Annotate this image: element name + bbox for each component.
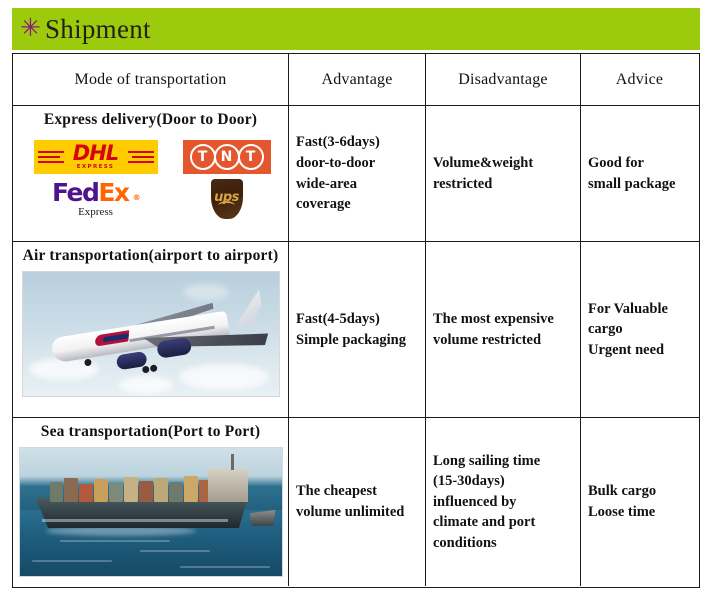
container-box — [79, 484, 93, 502]
plane-landing-gear — [141, 366, 149, 374]
cell-disadvantage: The most expensive volume restricted — [426, 242, 581, 417]
container-stack — [50, 476, 228, 502]
dhl-streak-icon — [38, 151, 64, 153]
container-box — [154, 478, 168, 502]
container-box — [109, 483, 123, 502]
cell-disadvantage: Volume&weight restricted — [426, 106, 581, 241]
courier-logo-group: DHL EXPRESS T N T FedEx® Express — [20, 137, 282, 221]
title-banner: ✳ Shipment — [12, 8, 700, 50]
cell-advantage: Fast(4-5days) Simple packaging — [289, 242, 426, 417]
table-row: Express delivery(Door to Door) DHL EXPRE… — [13, 106, 699, 242]
page-title: Shipment — [45, 14, 151, 45]
container-box — [94, 479, 108, 502]
ship-hull — [36, 498, 248, 528]
table-header-row: Mode of transportation Advantage Disadva… — [13, 54, 699, 106]
plane-landing-gear — [149, 364, 157, 372]
table-row: Sea transportation(Port to Port) — [13, 418, 699, 586]
tnt-letter-3: T — [238, 144, 264, 170]
airplane-photo — [22, 271, 280, 397]
plane-landing-gear — [83, 358, 91, 366]
ship-hull-stripe — [42, 519, 228, 522]
dhl-sublabel: EXPRESS — [77, 164, 115, 170]
registered-mark-icon: ® — [133, 194, 140, 202]
wave-line — [180, 566, 270, 568]
fedex-wordmark: FedEx® — [52, 180, 139, 205]
ship-bridge — [208, 468, 248, 502]
cell-disadvantage: Long sailing time (15-30days) influenced… — [426, 418, 581, 586]
cell-mode-sea: Sea transportation(Port to Port) — [13, 418, 289, 586]
asterisk-icon: ✳ — [20, 15, 41, 40]
container-ship-photo — [19, 447, 283, 577]
ship-mast — [231, 454, 234, 470]
column-header-mode: Mode of transportation — [13, 54, 289, 105]
cell-advantage: The cheapest volume unlimited — [289, 418, 426, 586]
container-box — [50, 482, 64, 502]
cell-advice: For Valuable cargo Urgent need — [581, 242, 698, 417]
cell-mode-express: Express delivery(Door to Door) DHL EXPRE… — [13, 106, 289, 241]
cloud-shape — [179, 364, 269, 390]
fedex-sublabel: Express — [78, 207, 113, 218]
tnt-letter-1: T — [190, 144, 216, 170]
mode-label: Express delivery(Door to Door) — [44, 111, 257, 129]
dhl-streak-icon — [132, 156, 154, 158]
mode-label: Air transportation(airport to airport) — [23, 247, 279, 265]
dhl-streak-icon — [38, 161, 64, 163]
tnt-logo: T N T — [183, 140, 271, 174]
container-box — [139, 481, 153, 502]
fedex-logo: FedEx® Express — [52, 180, 139, 218]
dhl-streak-icon — [128, 151, 154, 153]
container-box — [64, 478, 78, 502]
column-header-advantage: Advantage — [289, 54, 426, 105]
tnt-letter-2: N — [214, 144, 240, 170]
container-box — [184, 476, 198, 502]
dhl-streak-icon — [38, 156, 60, 158]
mode-label: Sea transportation(Port to Port) — [41, 423, 260, 441]
cell-mode-air: Air transportation(airport to airport) — [13, 242, 289, 417]
cell-advice: Good for small package — [581, 106, 698, 241]
shipment-comparison-table: Mode of transportation Advantage Disadva… — [12, 53, 700, 588]
column-header-disadvantage: Disadvantage — [426, 54, 581, 105]
wave-line — [140, 550, 210, 552]
dhl-streak-icon — [128, 161, 154, 163]
container-box — [124, 477, 138, 502]
wave-line — [32, 560, 112, 562]
fedex-word-part1: Fed — [52, 180, 98, 205]
ups-logo: ups — [211, 179, 243, 219]
fedex-word-part2: Ex — [98, 180, 128, 205]
container-box — [169, 482, 183, 502]
column-header-advice: Advice — [581, 54, 698, 105]
cell-advantage: Fast(3-6days) door-to-door wide-area cov… — [289, 106, 426, 241]
cloud-shape — [119, 376, 173, 394]
table-row: Air transportation(airport to airport) — [13, 242, 699, 418]
cell-advice: Bulk cargo Loose time — [581, 418, 698, 586]
dhl-wordmark: DHL — [73, 144, 118, 163]
ups-bow-icon — [218, 201, 235, 210]
wave-line — [60, 540, 170, 542]
dhl-logo: DHL EXPRESS — [34, 140, 158, 174]
